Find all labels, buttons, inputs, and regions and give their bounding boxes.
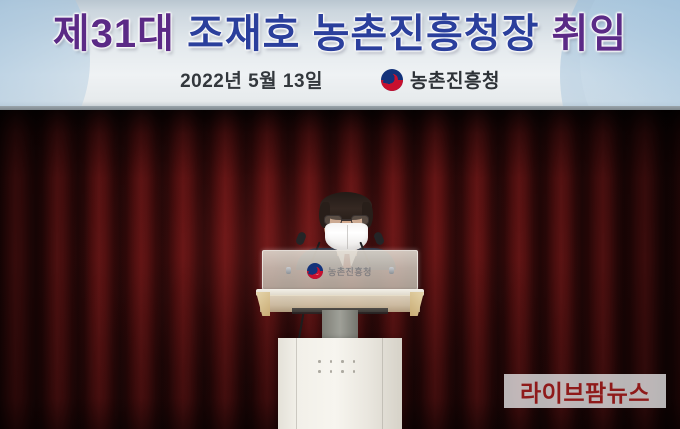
podium-base-seam-left xyxy=(296,338,297,429)
taegeuk-icon xyxy=(381,69,403,91)
podium-base-seam-right xyxy=(382,338,383,429)
banner-headline: 제31대 조재호 농촌진흥청장 취임 xyxy=(0,8,680,60)
banner-subline: 2022년 5월 13일 농촌진흥청 xyxy=(0,66,680,93)
taegeuk-swirl-shape xyxy=(308,265,319,276)
taegeuk-swirl-shape xyxy=(383,71,398,86)
podium-vent-dot xyxy=(341,370,344,373)
podium: 농촌진흥청 xyxy=(256,250,424,429)
podium-vent-dot xyxy=(341,360,344,363)
podium-vent-dot xyxy=(353,360,356,363)
podium-cable xyxy=(298,314,304,340)
microphone-left-head xyxy=(295,231,307,246)
podium-bolt-right xyxy=(389,267,394,274)
taegeuk-center-dot xyxy=(313,269,318,274)
banner-bottom-edge xyxy=(0,106,680,110)
photo-scene: 제31대 조재호 농촌진흥청장 취임 2022년 5월 13일 농촌진흥청 xyxy=(0,0,680,429)
banner-organization-block: 농촌진흥청 xyxy=(381,66,500,93)
headline-segment-title: 농촌진흥청장 xyxy=(313,12,540,56)
microphone-right-head xyxy=(373,231,385,246)
headline-segment-name: 조재호 xyxy=(187,12,300,56)
podium-vent-dot xyxy=(318,370,321,373)
watermark-text: 라이브팜뉴스 xyxy=(520,374,650,408)
glasses-bridge xyxy=(342,219,351,221)
podium-vent-grid xyxy=(318,360,362,378)
headline-segment-event: 취임 xyxy=(552,12,628,56)
event-banner: 제31대 조재호 농촌진흥청장 취임 2022년 5월 13일 농촌진흥청 xyxy=(0,0,680,110)
taegeuk-icon xyxy=(307,263,323,279)
podium-vent-dot xyxy=(353,370,356,373)
podium-vent-dot xyxy=(330,360,333,363)
podium-desk-right-wing xyxy=(410,292,424,316)
podium-organization-name: 농촌진흥청 xyxy=(328,265,372,278)
podium-vent-dot xyxy=(330,370,333,373)
watermark: 라이브팜뉴스 xyxy=(504,374,666,408)
banner-organization-name: 농촌진흥청 xyxy=(410,66,500,93)
podium-base xyxy=(278,338,402,429)
podium-bolt-left xyxy=(286,267,291,274)
banner-date: 2022년 5월 13일 xyxy=(180,66,323,93)
headline-segment-term: 제31대 xyxy=(53,12,175,56)
taegeuk-center-dot xyxy=(390,77,397,84)
podium-logo-block: 농촌진흥청 xyxy=(307,263,372,279)
podium-vent-dot xyxy=(318,360,321,363)
podium-desk-left-wing xyxy=(256,292,270,316)
